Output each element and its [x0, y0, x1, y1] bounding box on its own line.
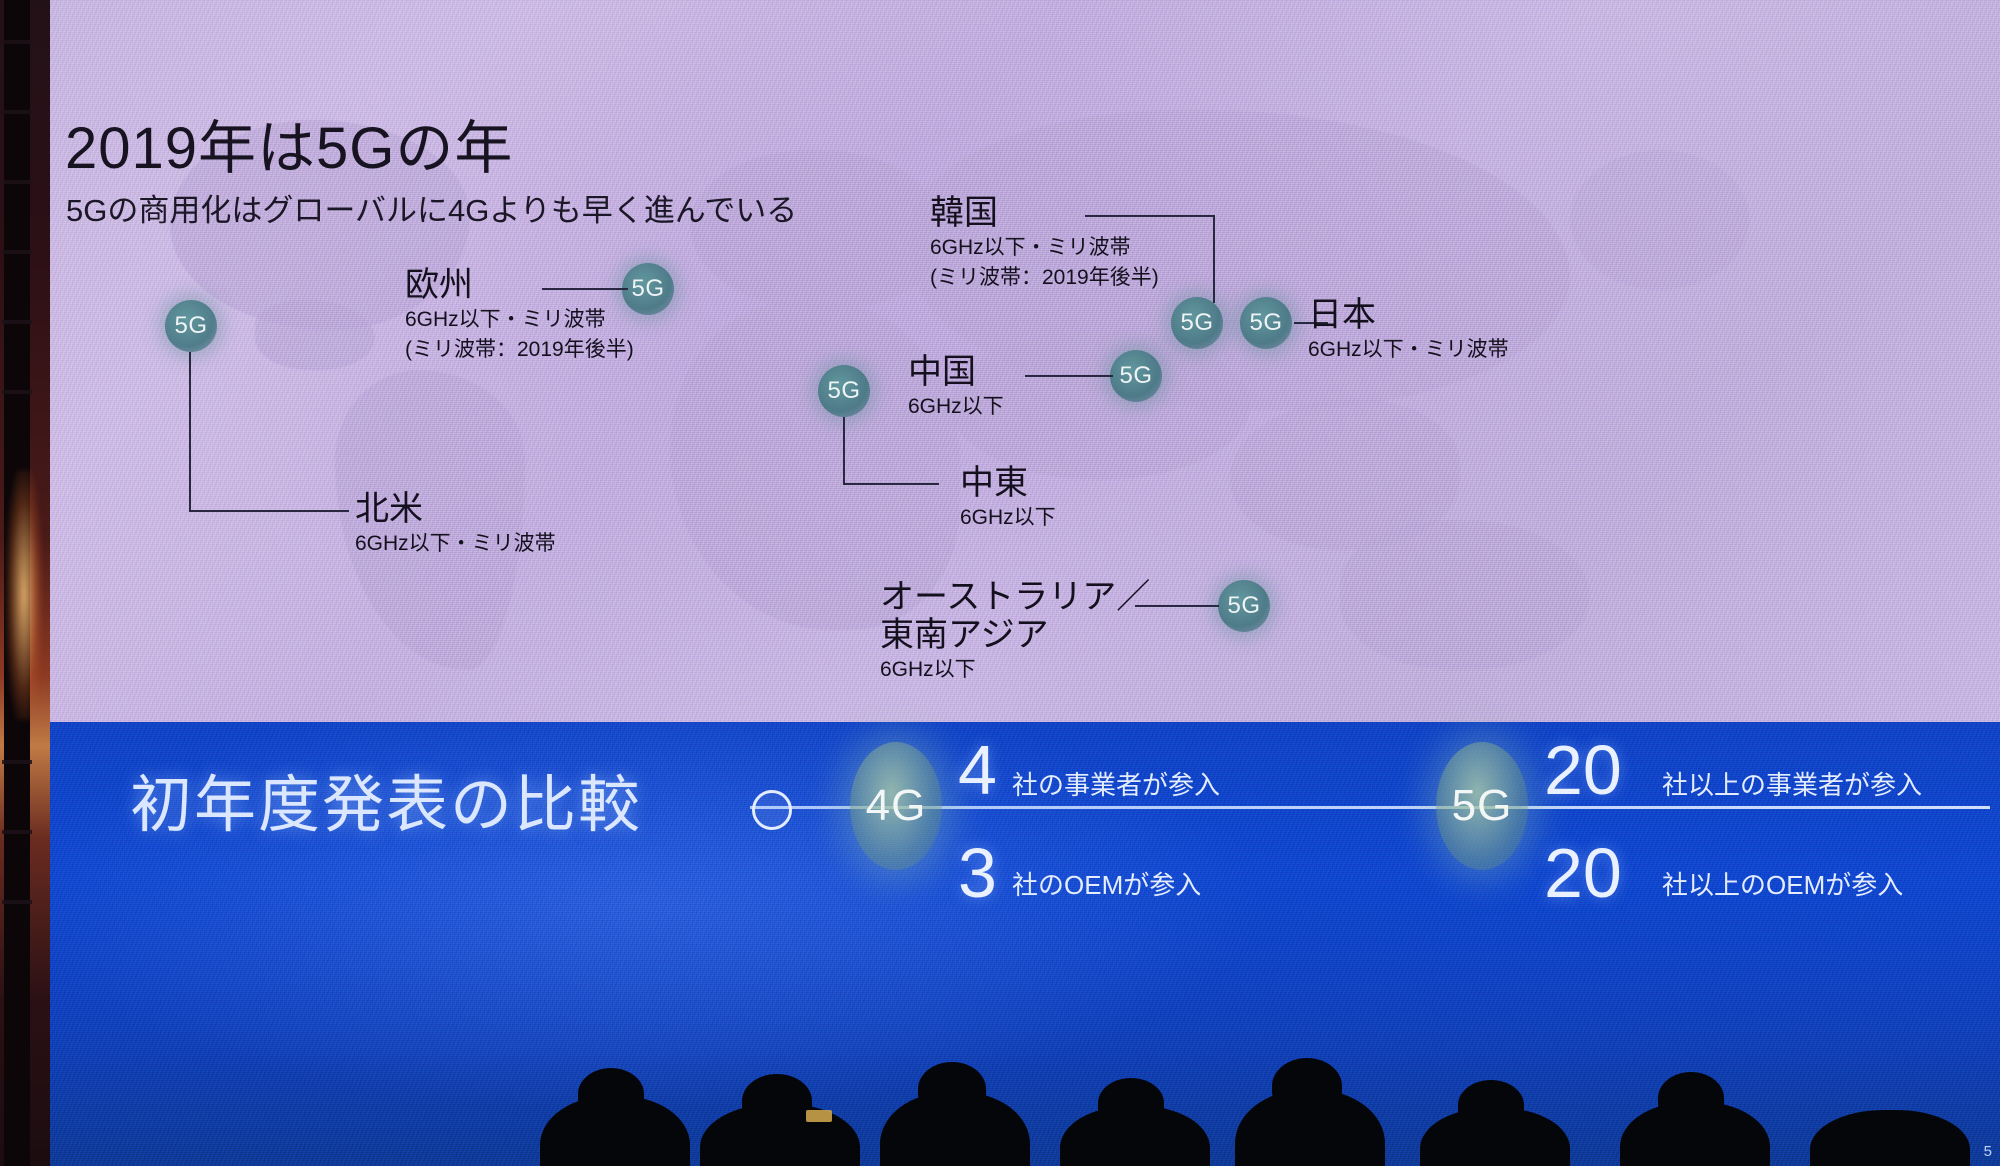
leader-line-north-america-vertical [189, 352, 191, 512]
audience-head [918, 1062, 986, 1116]
region-meta1-europe: 6GHz以下・ミリ波帯 [405, 307, 634, 334]
leader-line-middle-east-vertical [843, 417, 845, 485]
badge-5g-north-america: 5G [165, 300, 217, 352]
audience-head [1658, 1072, 1724, 1124]
truss-rung [2, 760, 32, 764]
annotation-oceania-sea: オーストラリア／ 東南アジア 6GHz以下 [880, 578, 1150, 684]
region-meta2-korea: (ミリ波帯：2019年後半) [930, 265, 1159, 292]
region-meta-middle-east: 6GHz以下 [960, 505, 1056, 532]
landmass-europe [690, 150, 940, 310]
annotation-middle-east: 中東 6GHz以下 [960, 466, 1056, 532]
annotation-china: 中国 6GHz以下 [908, 355, 1004, 421]
truss-rung [2, 390, 32, 394]
audience-head [578, 1068, 644, 1120]
region-name-europe: 欧州 [405, 268, 634, 304]
badge-5g-korea: 5G [1171, 297, 1223, 349]
stat-5g-oem-value: 20 [1544, 838, 1622, 908]
page-title: 2019年は5Gの年 [65, 101, 513, 185]
comparison-title: 初年度発表の比較 [130, 754, 642, 844]
region-name-china: 中国 [908, 355, 1004, 391]
region-name-north-america: 北米 [355, 492, 556, 528]
stat-4g-operators-value: 4 [958, 735, 997, 805]
region-meta-japan: 6GHz以下・ミリ波帯 [1308, 337, 1509, 364]
truss-rung [2, 900, 32, 904]
truss-rung [2, 180, 32, 184]
stat-5g-operators-value: 20 [1544, 735, 1622, 805]
stat-4g-oem-text: 社のOEMが参入 [1012, 872, 1201, 898]
landmass-australia [1340, 520, 1590, 670]
stat-4g-operators-text: 社の事業者が参入 [1012, 772, 1220, 798]
badge-5g-middle-east: 5G [818, 365, 870, 417]
truss-rung [2, 110, 32, 114]
presentation-screenshot: 2019年は5Gの年 5Gの商用化はグローバルに4Gよりも早く進んでいる 5G … [0, 0, 2000, 1166]
audience-head [742, 1074, 812, 1128]
stat-5g-oem-text: 社以上のOEMが参入 [1662, 872, 1903, 898]
truss-rung [2, 830, 32, 834]
truss-rung [2, 40, 32, 44]
badge-5g-china: 5G [1110, 350, 1162, 402]
stage-truss [0, 0, 50, 1166]
leader-line-middle-east-horizontal [843, 483, 939, 485]
badge-5g-japan: 5G [1240, 297, 1292, 349]
led-screen: 2019年は5Gの年 5Gの商用化はグローバルに4Gよりも早く進んでいる 5G … [50, 0, 2000, 1166]
timeline-start-node [752, 790, 792, 830]
audience-head [1272, 1058, 1342, 1114]
region-meta2-europe: (ミリ波帯：2019年後半) [405, 337, 634, 364]
region-meta-oceania-sea: 6GHz以下 [880, 657, 1150, 684]
badge-5g-oceania-sea: 5G [1218, 580, 1270, 632]
leader-line-north-america-horizontal [189, 510, 349, 512]
region-name-korea: 韓国 [930, 196, 1159, 232]
stat-5g-operators-text: 社以上の事業者が参入 [1662, 772, 1922, 798]
map-panel: 2019年は5Gの年 5Gの商用化はグローバルに4Gよりも早く進んでいる 5G … [50, 0, 2000, 722]
page-subtitle: 5Gの商用化はグローバルに4Gよりも早く進んでいる [66, 185, 797, 230]
region-meta1-korea: 6GHz以下・ミリ波帯 [930, 235, 1159, 262]
region-meta-china: 6GHz以下 [908, 394, 1004, 421]
audience-glint [806, 1110, 832, 1122]
region-name-middle-east: 中東 [960, 466, 1056, 502]
audience-head [1458, 1080, 1524, 1130]
timeline-node-5g: 5G [1436, 742, 1528, 870]
annotation-japan: 日本 6GHz以下・ミリ波帯 [1308, 298, 1509, 364]
region-name-japan: 日本 [1308, 298, 1509, 334]
truss-rung [2, 320, 32, 324]
annotation-north-america: 北米 6GHz以下・ミリ波帯 [355, 492, 556, 558]
stat-4g-oem-value: 3 [958, 838, 997, 908]
stage-light-glow [6, 470, 42, 720]
region-meta-north-america: 6GHz以下・ミリ波帯 [355, 531, 556, 558]
annotation-europe: 欧州 6GHz以下・ミリ波帯 (ミリ波帯：2019年後半) [405, 268, 634, 363]
region-name-oceania-sea-line1: オーストラリア／ [880, 578, 1150, 616]
page-number: 5 [1984, 1143, 1992, 1160]
annotation-korea: 韓国 6GHz以下・ミリ波帯 (ミリ波帯：2019年後半) [930, 196, 1159, 291]
landmass-far-east [1570, 150, 1750, 290]
region-name-oceania-sea-line2: 東南アジア [880, 616, 1150, 654]
leader-line-korea-vertical [1213, 215, 1215, 303]
truss-rung [2, 250, 32, 254]
audience-head [1098, 1078, 1164, 1128]
leader-line-china [1025, 375, 1113, 377]
timeline-node-4g: 4G [850, 742, 942, 870]
